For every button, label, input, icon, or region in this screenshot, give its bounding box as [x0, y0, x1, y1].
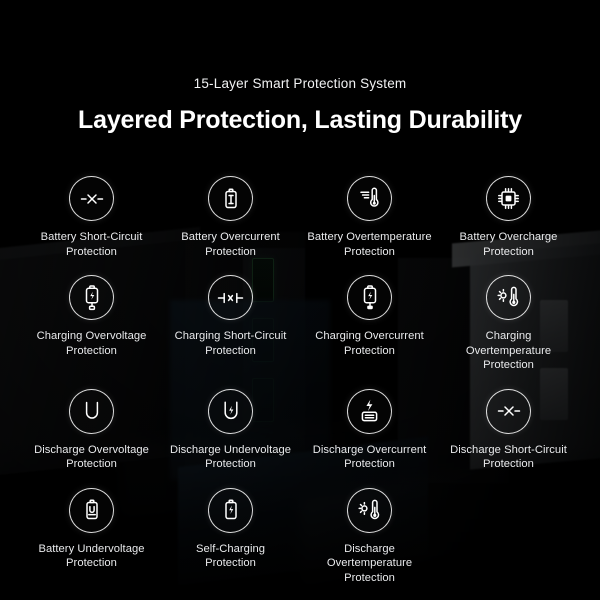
protection-feature-item: Discharge Overcurrent Protection [300, 389, 439, 472]
short-circuit-icon [486, 389, 531, 434]
protection-feature-item: Discharge Overvoltage Protection [22, 389, 161, 472]
protection-feature-label: Battery Overtemperature Protection [307, 230, 431, 259]
protection-feature-item: Charging Short-Circuit Protection [161, 275, 300, 373]
protection-feature-label: Battery Overcharge Protection [460, 230, 558, 259]
protection-feature-item: Discharge Undervoltage Protection [161, 389, 300, 472]
protection-feature-label: Charging Short-Circuit Protection [175, 329, 287, 358]
protection-feature-label: Discharge Short-Circuit Protection [450, 443, 567, 472]
protection-feature-grid: Battery Short-Circuit Protection Battery… [22, 176, 578, 585]
protection-feature-label: Battery Short-Circuit Protection [41, 230, 143, 259]
page-title: Layered Protection, Lasting Durability [0, 106, 600, 135]
protection-feature-label: Charging Overvoltage Protection [37, 329, 147, 358]
plug-bolt-icon [347, 275, 392, 320]
protection-feature-item: Self-Charging Protection [161, 488, 300, 586]
protection-feature-label: Battery Overcurrent Protection [181, 230, 280, 259]
protection-feature-label: Charging Overtemperature Protection [443, 329, 574, 373]
protection-feature-item: Battery Short-Circuit Protection [22, 176, 161, 259]
sun-thermometer-icon [347, 488, 392, 533]
u-shield-bolt-icon [208, 389, 253, 434]
protection-feature-item: Battery Undervoltage Protection [22, 488, 161, 586]
protection-feature-label: Discharge Overvoltage Protection [34, 443, 149, 472]
battery-current-icon [208, 176, 253, 221]
u-shield-icon [69, 389, 114, 434]
plug-short-circuit-icon [208, 275, 253, 320]
protection-feature-item: Charging Overvoltage Protection [22, 275, 161, 373]
protection-feature-item: Discharge Overtemperature Protection [300, 488, 439, 586]
chip-icon [486, 176, 531, 221]
eyebrow-text: 15-Layer Smart Protection System [0, 76, 600, 91]
protection-feature-item: Battery Overcharge Protection [439, 176, 578, 259]
sun-thermometer-icon [486, 275, 531, 320]
protection-feature-item: Charging Overcurrent Protection [300, 275, 439, 373]
protection-feature-label: Charging Overcurrent Protection [315, 329, 424, 358]
protection-feature-item: Charging Overtemperature Protection [439, 275, 578, 373]
protection-feature-label: Discharge Undervoltage Protection [170, 443, 291, 472]
protection-infographic: 15-Layer Smart Protection System Layered… [0, 0, 600, 600]
protection-feature-label: Battery Undervoltage Protection [38, 542, 144, 571]
battery-u-icon [69, 488, 114, 533]
short-circuit-icon [69, 176, 114, 221]
protection-feature-item: Battery Overtemperature Protection [300, 176, 439, 259]
battery-bolt-icon [208, 488, 253, 533]
protection-feature-label: Self-Charging Protection [196, 542, 265, 571]
protection-feature-item: Battery Overcurrent Protection [161, 176, 300, 259]
bolt-over-battery-icon [347, 389, 392, 434]
thermometer-heat-icon [347, 176, 392, 221]
battery-bolt-plug-icon [69, 275, 114, 320]
protection-feature-item: Discharge Short-Circuit Protection [439, 389, 578, 472]
protection-feature-label: Discharge Overtemperature Protection [304, 542, 435, 586]
protection-feature-label: Discharge Overcurrent Protection [313, 443, 427, 472]
